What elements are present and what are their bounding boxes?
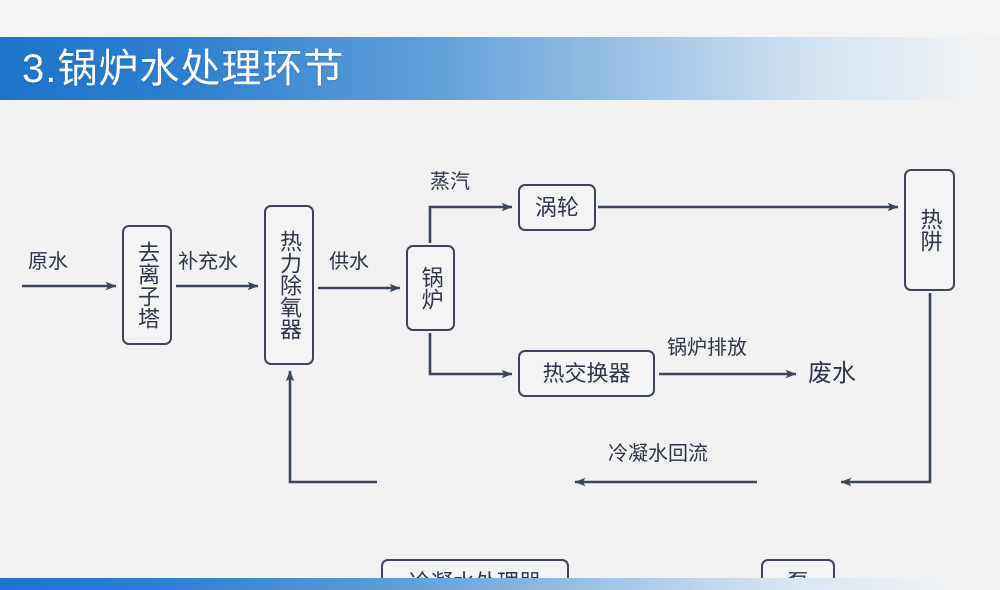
- node-label: 锅炉: [420, 266, 442, 310]
- node-label: 热阱: [919, 208, 941, 252]
- node-heat-exchanger[interactable]: 热交换器: [518, 350, 655, 397]
- page-title: 3.锅炉水处理环节: [22, 40, 344, 98]
- edge-label-feed-water: 供水: [329, 252, 369, 272]
- edge-label-raw-water: 原水: [28, 252, 68, 272]
- edge-label-boiler-blowdown: 锅炉排放: [667, 338, 747, 358]
- slide-top-margin: [0, 0, 1000, 37]
- edge-label-makeup-water: 补充水: [178, 252, 238, 272]
- node-turbine[interactable]: 涡轮: [518, 184, 596, 231]
- node-deaerator[interactable]: 热力除氧器: [264, 205, 314, 365]
- connector-boiler-turbine: [430, 207, 512, 243]
- node-label: 热交换器: [542, 362, 630, 385]
- diagram-area: 去离子塔 热力除氧器 锅炉 涡轮 热交换器 热阱 泵 冷凝水处理器 原水 补充水…: [0, 100, 1000, 578]
- node-boiler[interactable]: 锅炉: [406, 245, 455, 331]
- node-label: 涡轮: [535, 196, 579, 219]
- label-wastewater: 废水: [808, 362, 856, 386]
- node-label: 热力除氧器: [278, 230, 300, 340]
- connector-boiler-heatexchanger: [430, 333, 512, 374]
- node-label: 去离子塔: [136, 241, 158, 329]
- node-deionizer[interactable]: 去离子塔: [122, 225, 172, 345]
- slide-canvas: 3.锅炉水处理环节: [0, 0, 1000, 590]
- edge-label-condensate-return: 冷凝水回流: [608, 444, 708, 464]
- edge-label-steam: 蒸汽: [430, 172, 470, 192]
- connector-heatsink-pump: [841, 293, 930, 482]
- node-heat-sink[interactable]: 热阱: [904, 169, 955, 291]
- connector-condensate-deaerator: [290, 371, 377, 482]
- footer-accent-bar: [0, 578, 1000, 590]
